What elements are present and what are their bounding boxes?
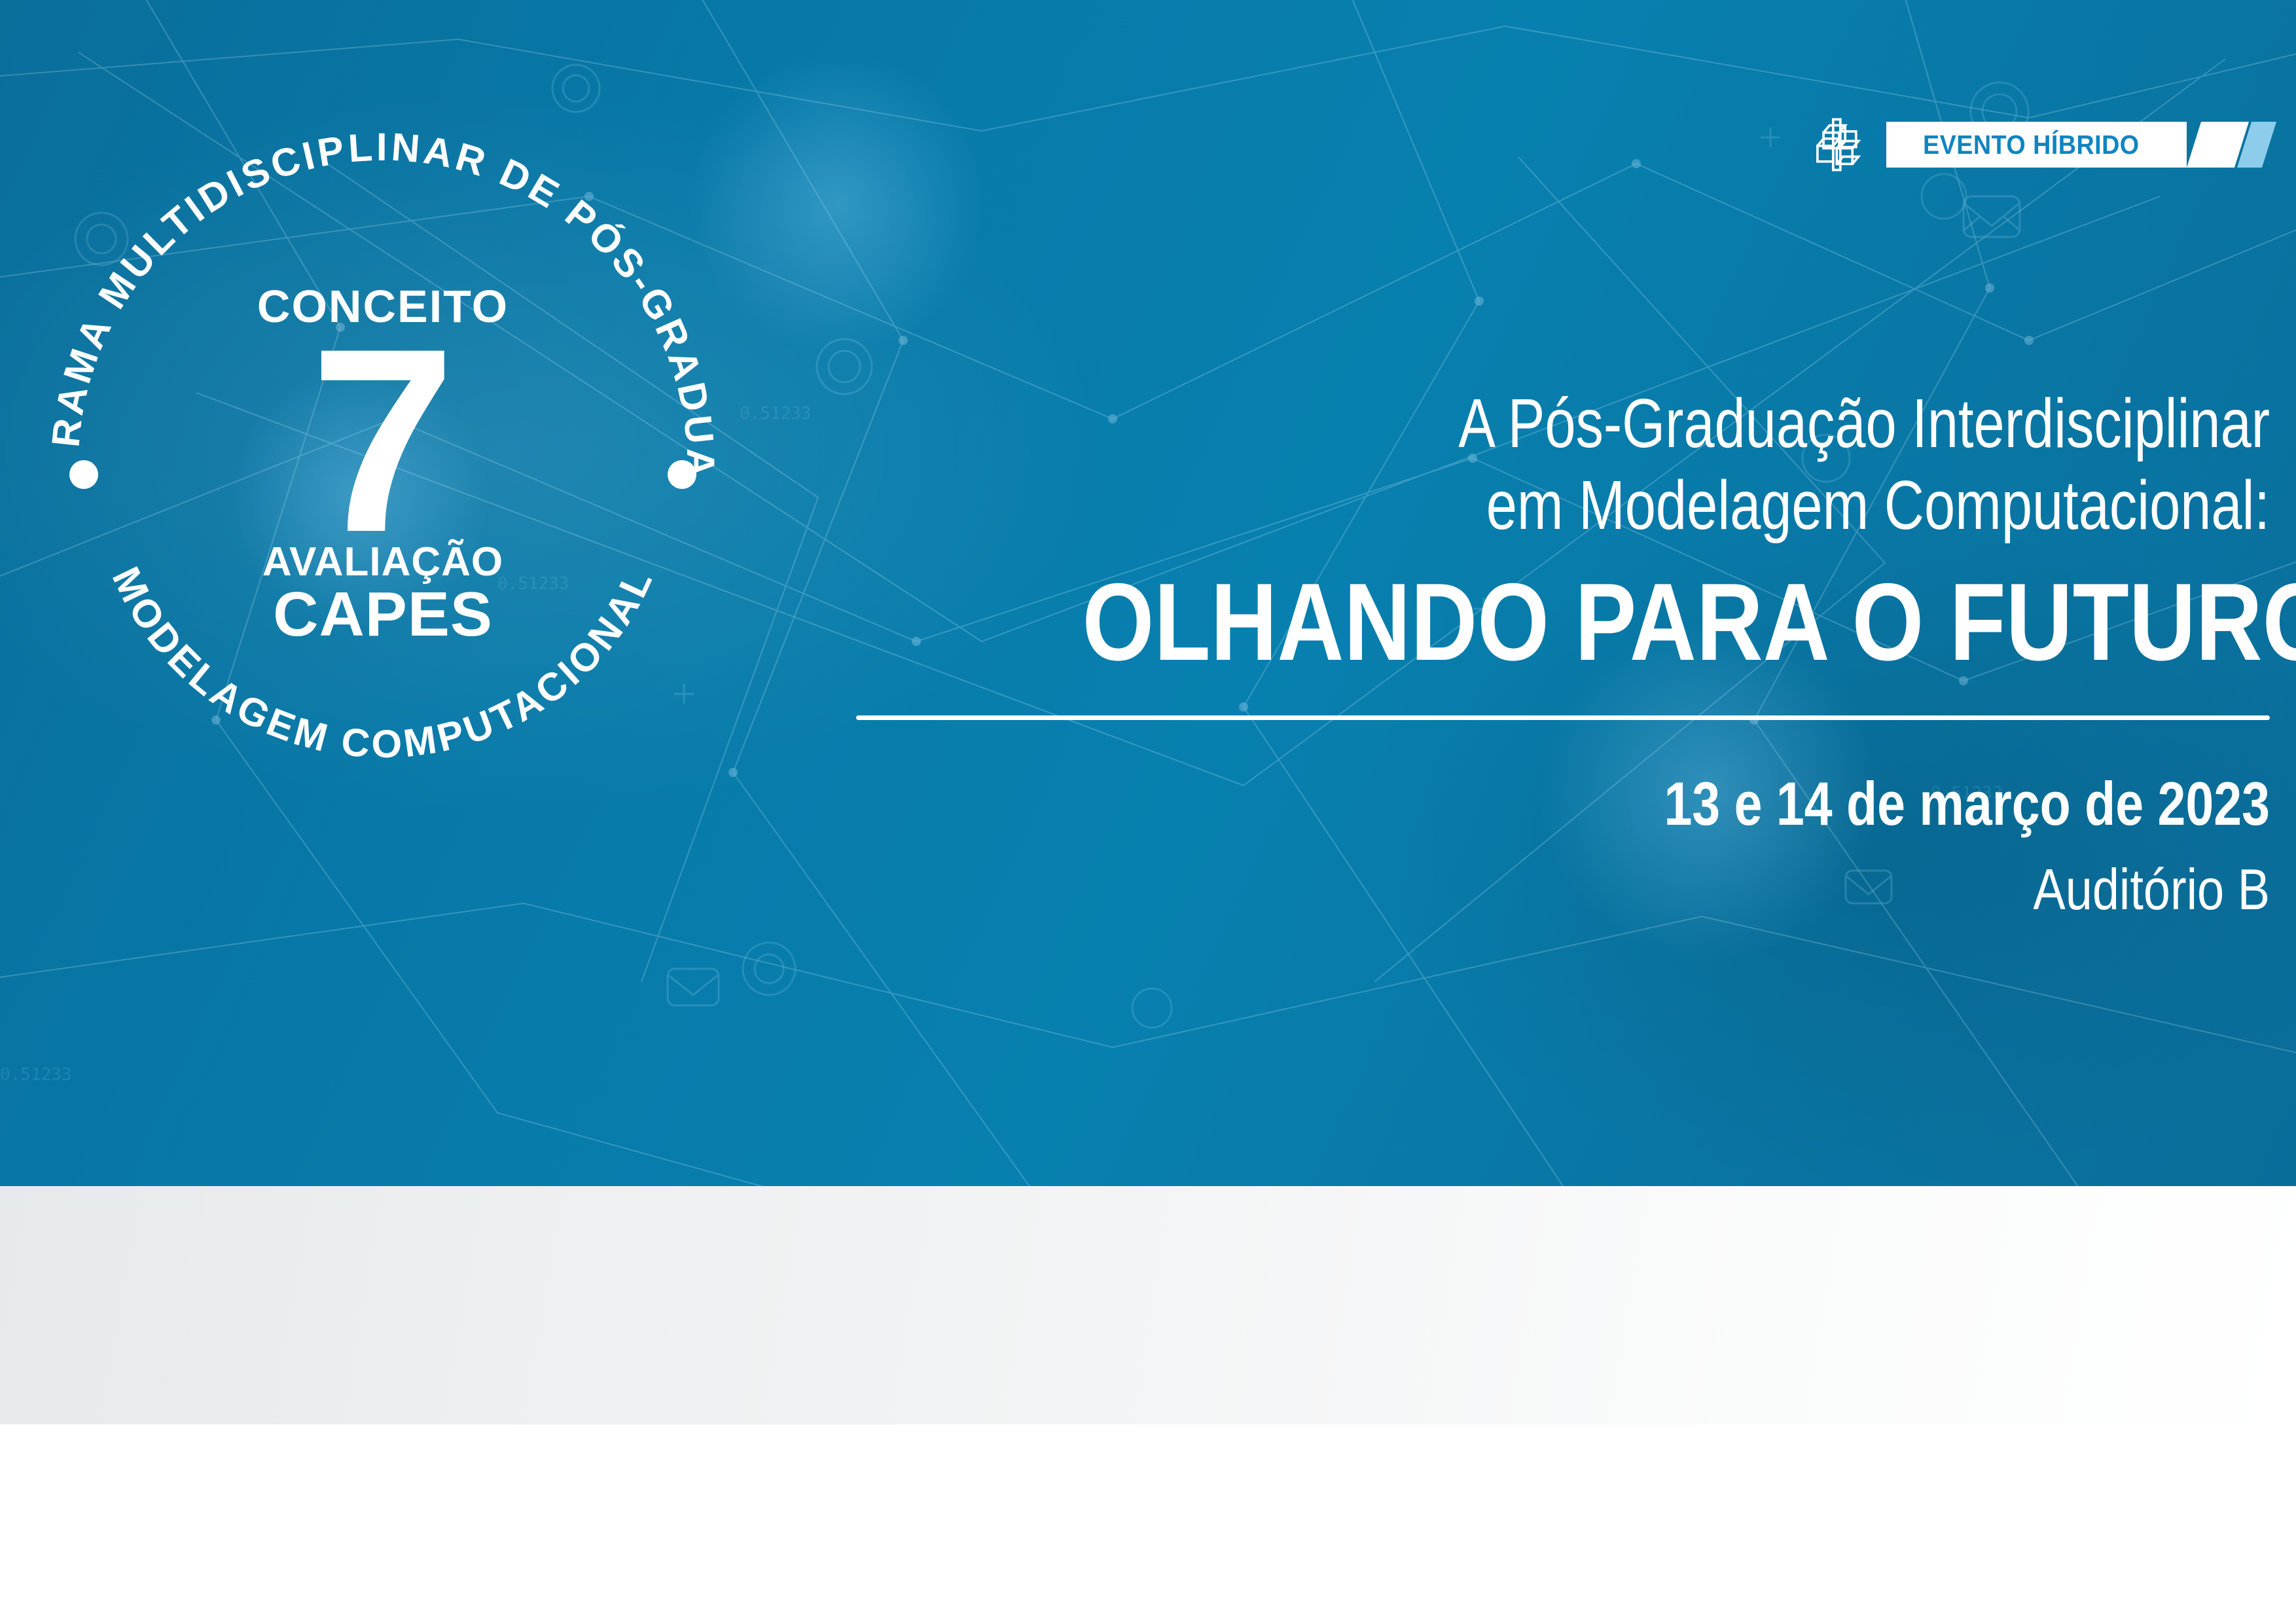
title-divider-rule <box>856 715 2270 720</box>
event-venue: Auditório B <box>1083 856 2270 923</box>
lncc-cubes-icon <box>1809 115 1869 175</box>
hero-banner: 0.51233 0.51233 0.51233 0.51233 <box>0 0 2296 1186</box>
info-band: Inscrições pelo link: https://www.even3.… <box>0 1186 2296 1424</box>
event-headline: OLHANDO PARA O FUTURO <box>1083 564 2270 680</box>
event-date: 13 e 14 de março de 2023 <box>1111 768 2270 839</box>
seal-grade-number: 7 <box>310 333 456 548</box>
svg-text:0.51233: 0.51233 <box>740 404 812 424</box>
title-line-2: em Modelagem Computacional: <box>1139 465 2270 547</box>
hybrid-badge-box: EVENTO HÍBRIDO <box>1886 122 2187 168</box>
capes-grade-seal: PROGRAMA MULTIDISCIPLINAR DE PÓS-GRADUAÇ… <box>26 108 740 821</box>
title-line-1: A Pós-Graduação Interdisciplinar <box>1139 383 2270 465</box>
svg-text:0.51233: 0.51233 <box>0 1065 72 1085</box>
seal-label-capes: CAPES <box>273 583 493 646</box>
hybrid-badge-label: EVENTO HÍBRIDO <box>1923 130 2140 160</box>
event-title-block: A Pós-Graduação Interdisciplinar em Mode… <box>856 383 2270 923</box>
footer: Av. Getúlio Vargas 333, Quitandinha Petr… <box>0 1424 2296 1624</box>
event-poster: 0.51233 0.51233 0.51233 0.51233 <box>0 0 2296 1624</box>
event-mode-badge: EVENTO HÍBRIDO <box>1809 115 2276 175</box>
seal-label-avaliacao: AVALIAÇÃO <box>262 541 503 583</box>
